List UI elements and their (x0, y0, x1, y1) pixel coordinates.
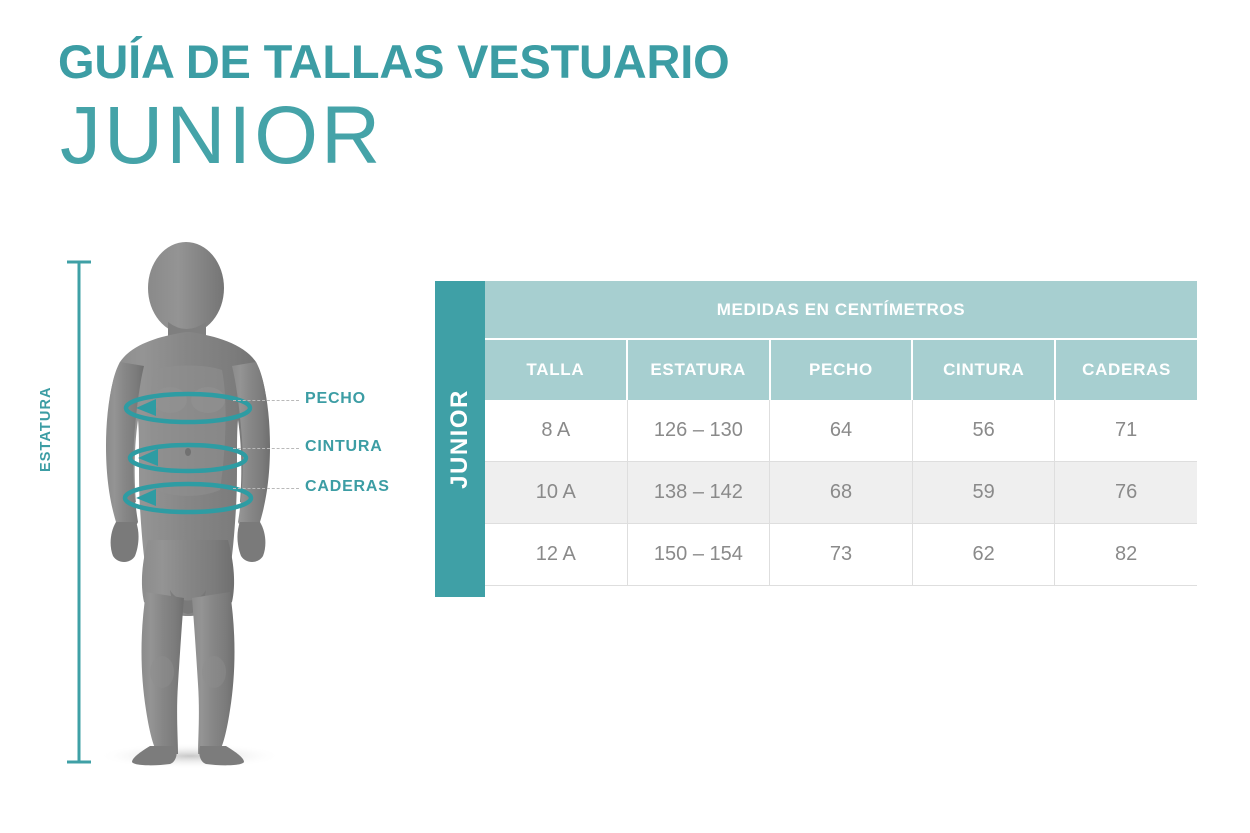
column-header-cintura: CINTURA (911, 340, 1054, 400)
leader-line-pecho (233, 400, 299, 401)
cell-talla: 8 A (485, 400, 627, 461)
height-label: ESTATURA (38, 386, 54, 472)
mannequin-figure-icon (78, 240, 308, 780)
cell-talla: 10 A (485, 462, 627, 523)
cell-estatura: 126 – 130 (627, 400, 770, 461)
cell-cintura: 59 (912, 462, 1055, 523)
leader-line-caderas (233, 488, 299, 489)
page-title: GUÍA DE TALLAS VESTUARIO (58, 38, 1058, 85)
cell-caderas: 71 (1054, 400, 1197, 461)
table-row: 12 A 150 – 154 73 62 82 (485, 524, 1197, 586)
callout-label-caderas: CADERAS (305, 478, 390, 496)
cell-cintura: 62 (912, 524, 1055, 585)
cell-pecho: 64 (769, 400, 912, 461)
column-header-estatura: ESTATURA (626, 340, 769, 400)
column-header-caderas: CADERAS (1054, 340, 1197, 400)
mannequin-illustration: ESTATURA (0, 240, 430, 780)
cell-talla: 12 A (485, 524, 627, 585)
cell-pecho: 73 (769, 524, 912, 585)
size-table-body: MEDIDAS EN CENTÍMETROS TALLA ESTATURA PE… (485, 281, 1197, 597)
table-row: 8 A 126 – 130 64 56 71 (485, 400, 1197, 462)
category-tab-junior: JUNIOR (435, 281, 485, 597)
page-subtitle: JUNIOR (60, 95, 1058, 177)
leader-line-cintura (233, 448, 299, 449)
table-row: 10 A 138 – 142 68 59 76 (485, 462, 1197, 524)
cell-caderas: 82 (1054, 524, 1197, 585)
title-block: GUÍA DE TALLAS VESTUARIO JUNIOR (58, 38, 1058, 177)
cell-cintura: 56 (912, 400, 1055, 461)
column-header-pecho: PECHO (769, 340, 912, 400)
cell-pecho: 68 (769, 462, 912, 523)
table-band-title: MEDIDAS EN CENTÍMETROS (485, 281, 1197, 338)
cell-estatura: 138 – 142 (627, 462, 770, 523)
callout-label-cintura: CINTURA (305, 438, 383, 456)
cell-estatura: 150 – 154 (627, 524, 770, 585)
callout-label-pecho: PECHO (305, 390, 366, 408)
size-table: JUNIOR MEDIDAS EN CENTÍMETROS TALLA ESTA… (435, 281, 1197, 597)
size-guide-page: GUÍA DE TALLAS VESTUARIO JUNIOR ESTATURA (0, 0, 1250, 833)
cell-caderas: 76 (1054, 462, 1197, 523)
column-header-talla: TALLA (485, 340, 626, 400)
category-tab-label: JUNIOR (446, 389, 474, 489)
table-header-row: TALLA ESTATURA PECHO CINTURA CADERAS (485, 338, 1197, 400)
